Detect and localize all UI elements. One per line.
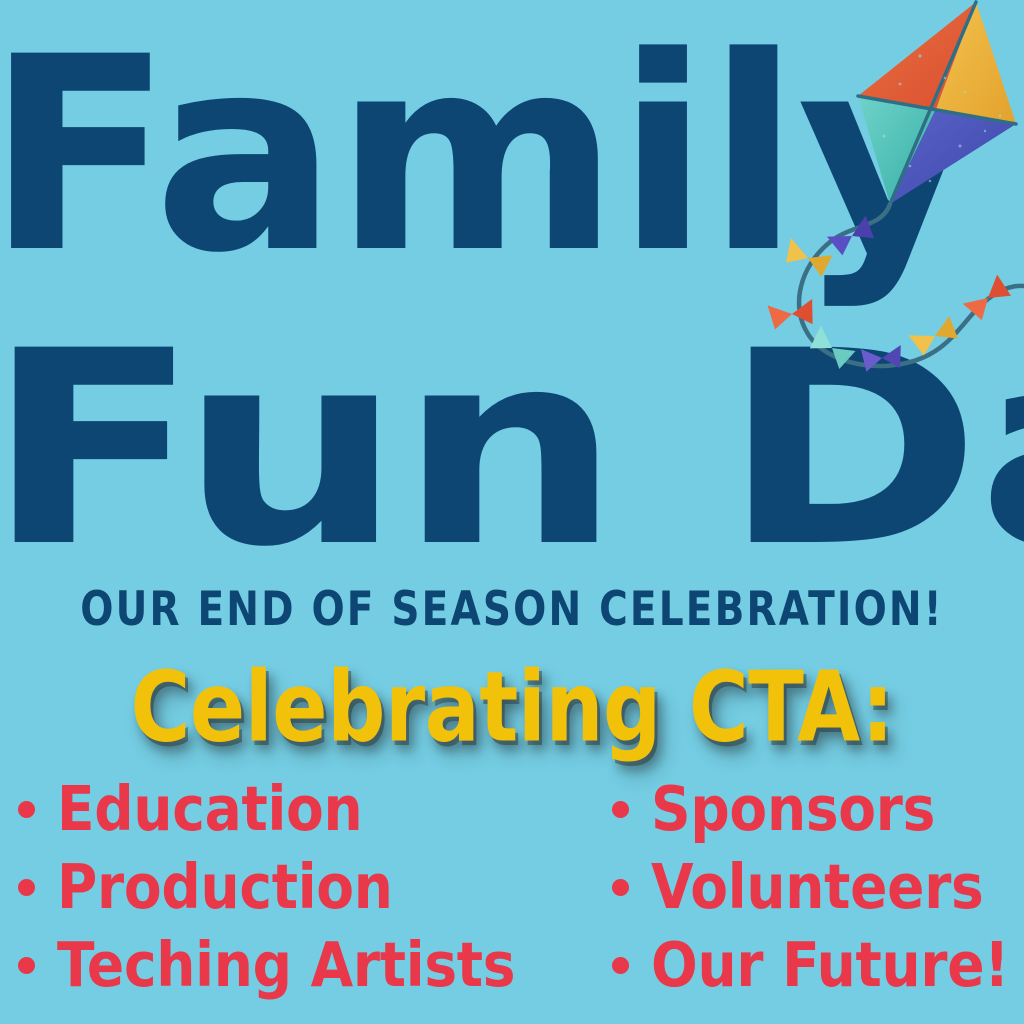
bullet-dot-icon [612,801,629,818]
poster-canvas: Family Fun Day [0,0,1024,1024]
bullet-column-left: Education Production Teching Artists [0,770,598,1020]
bullet-dot-icon [612,879,629,896]
list-item: Our Future! [612,926,1024,1004]
list-item: Sponsors [612,770,1024,848]
bullet-dot-icon [612,957,629,974]
bullet-dot-icon [18,957,35,974]
bullet-label: Education [57,778,362,840]
bullet-dot-icon [18,801,35,818]
headline-line-1: Family [0,22,1024,290]
list-item: Production [18,848,598,926]
list-item: Volunteers [612,848,1024,926]
bullet-columns: Education Production Teching Artists Spo… [0,770,1024,1020]
subtitle-text: OUR END OF SEASON CELEBRATION! [36,586,988,633]
bullet-label: Sponsors [651,778,935,840]
headline-line-2: Fun Day [0,316,1024,584]
bullet-label: Volunteers [651,856,984,918]
bullet-dot-icon [18,879,35,896]
bullet-label: Teching Artists [57,934,515,996]
bullet-column-right: Sponsors Volunteers Our Future! [598,770,1024,1020]
list-item: Education [18,770,598,848]
bullet-label: Production [57,856,393,918]
list-item: Teching Artists [18,926,598,1004]
cta-heading: Celebrating CTA: [15,658,1008,755]
bullet-label: Our Future! [651,934,1009,996]
